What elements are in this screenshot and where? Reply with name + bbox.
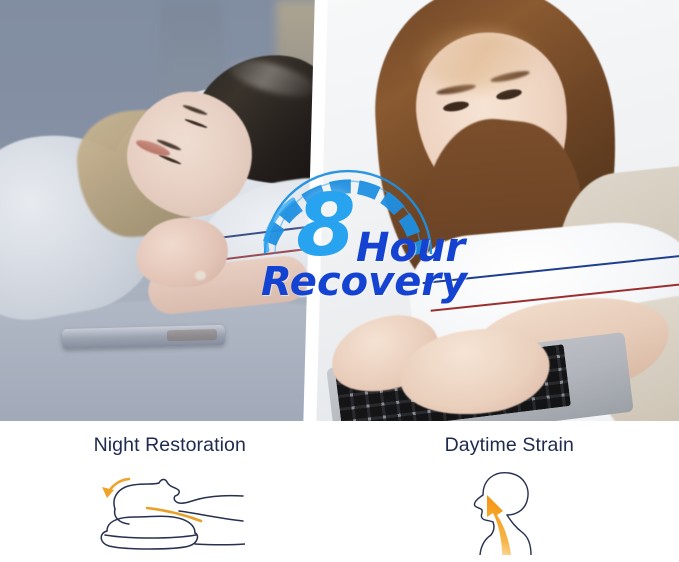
- smartphone-on-bed: [62, 325, 225, 349]
- benefit-column-day: Daytime Strain: [340, 421, 679, 562]
- neck-strain-arrow-icon-wrap: [449, 465, 569, 560]
- hair-highlight: [418, 30, 538, 90]
- neck-strain-arrow-icon: [449, 465, 569, 555]
- benefit-title-day: Daytime Strain: [445, 434, 574, 457]
- benefit-column-night: Night Restoration: [0, 421, 340, 562]
- bed-sheet: [0, 300, 330, 421]
- photo-band: [0, 0, 679, 421]
- benefit-panel: Night Restoration: [0, 421, 679, 562]
- head-on-pillow-icon: [95, 465, 245, 551]
- product-infographic-poster: 8 Hour Recovery Night Restoration: [0, 0, 679, 562]
- head-on-pillow-icon-wrap: [95, 465, 245, 556]
- night-sleeping-photo: [0, 0, 330, 421]
- finger-ring: [196, 272, 205, 279]
- benefit-title-night: Night Restoration: [94, 434, 246, 457]
